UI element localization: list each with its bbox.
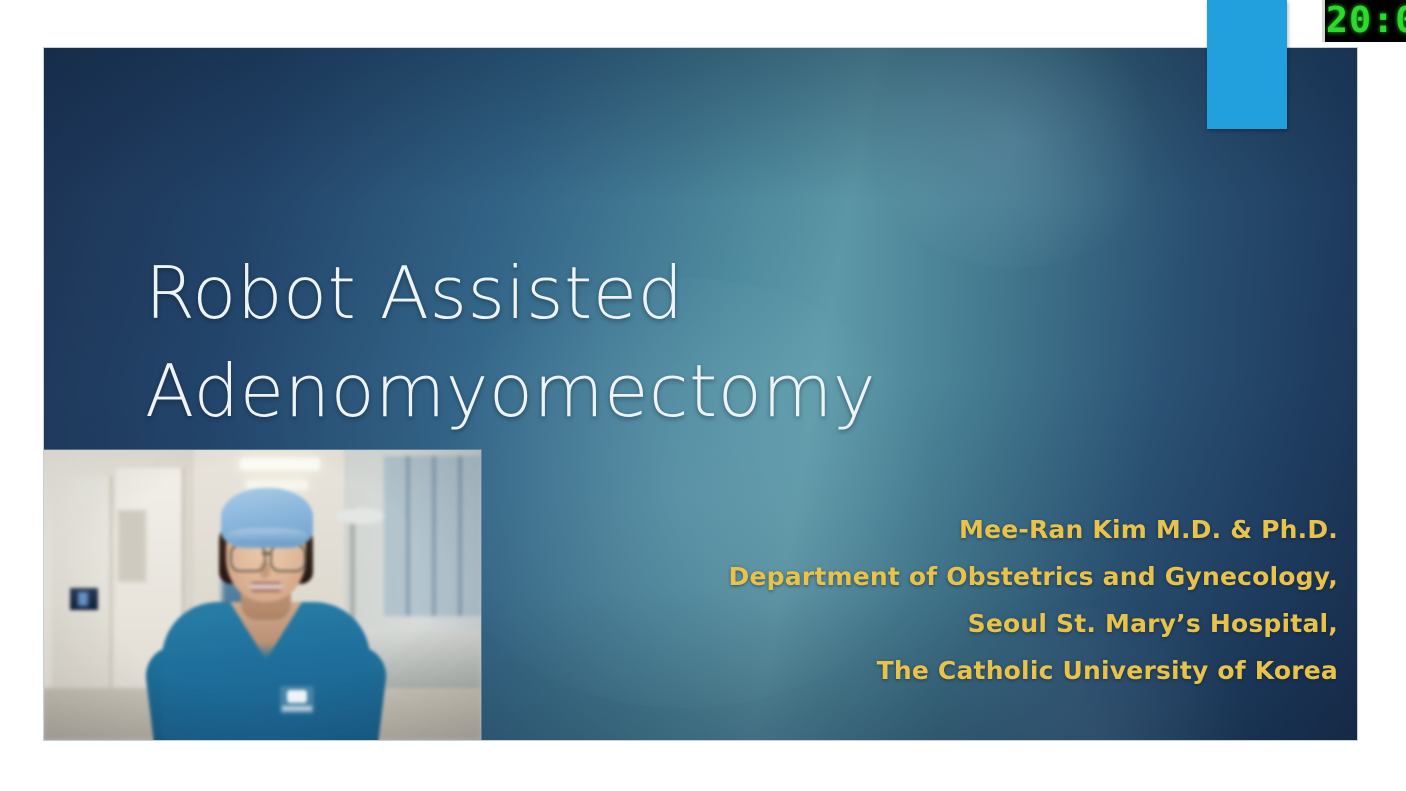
slide-title: Robot Assisted Adenomyomectomy [145,244,1145,440]
countdown-timer: 20:00 [1325,0,1406,42]
accent-bar [1207,0,1287,129]
subtitle-author: Mee-Ran Kim M.D. & Ph.D. [578,506,1338,553]
countdown-timer-value: 20:00 [1326,0,1406,42]
presentation-slide: Robot Assisted Adenomyomectomy Mee-Ran K… [44,48,1357,740]
subtitle-hospital: Seoul St. Mary’s Hospital, [578,600,1338,647]
subtitle-university: The Catholic University of Korea [578,647,1338,694]
slide-subtitle: Mee-Ran Kim M.D. & Ph.D. Department of O… [578,506,1338,694]
title-line-1: Robot Assisted [145,244,1145,342]
subtitle-department: Department of Obstetrics and Gynecology, [578,553,1338,600]
speaker-photo [44,450,481,740]
photo-vignette [44,450,481,740]
title-line-2: Adenomyomectomy [145,342,1145,440]
timer-bezel [1322,0,1325,42]
